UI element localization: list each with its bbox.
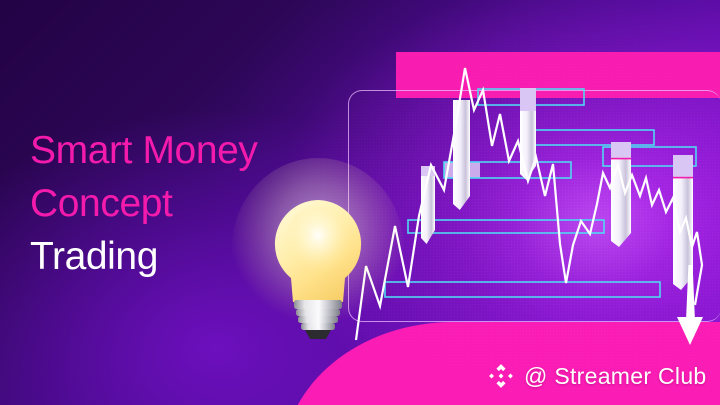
poster-canvas: Smart Money Concept Trading @ Streamer C… <box>0 0 720 405</box>
candle-separator-c5 <box>673 177 693 179</box>
title-line-2: Concept <box>30 177 258 230</box>
candle-cap-c4 <box>611 142 631 159</box>
candle-separator-c4 <box>611 158 631 160</box>
chart-zone-z3 <box>535 130 654 145</box>
title-line-1: Smart Money <box>30 124 258 177</box>
brand-handle: @ Streamer Club <box>524 363 707 390</box>
chart-zone-z5 <box>408 220 604 233</box>
chart-zone-z6 <box>385 282 660 297</box>
binance-diamond-icon <box>487 362 515 390</box>
page-title: Smart Money Concept Trading <box>30 124 258 283</box>
candle-cap-c5 <box>673 155 693 178</box>
chart-candles-layer <box>421 88 693 290</box>
brand-logo[interactable]: @ Streamer Club <box>487 362 707 390</box>
bearish-breakout-arrow-head <box>677 317 703 345</box>
title-line-3: Trading <box>30 230 258 283</box>
candle-body-c2 <box>453 100 470 210</box>
lightbulb-icon <box>232 158 404 339</box>
candle-cap-c3 <box>520 88 536 111</box>
